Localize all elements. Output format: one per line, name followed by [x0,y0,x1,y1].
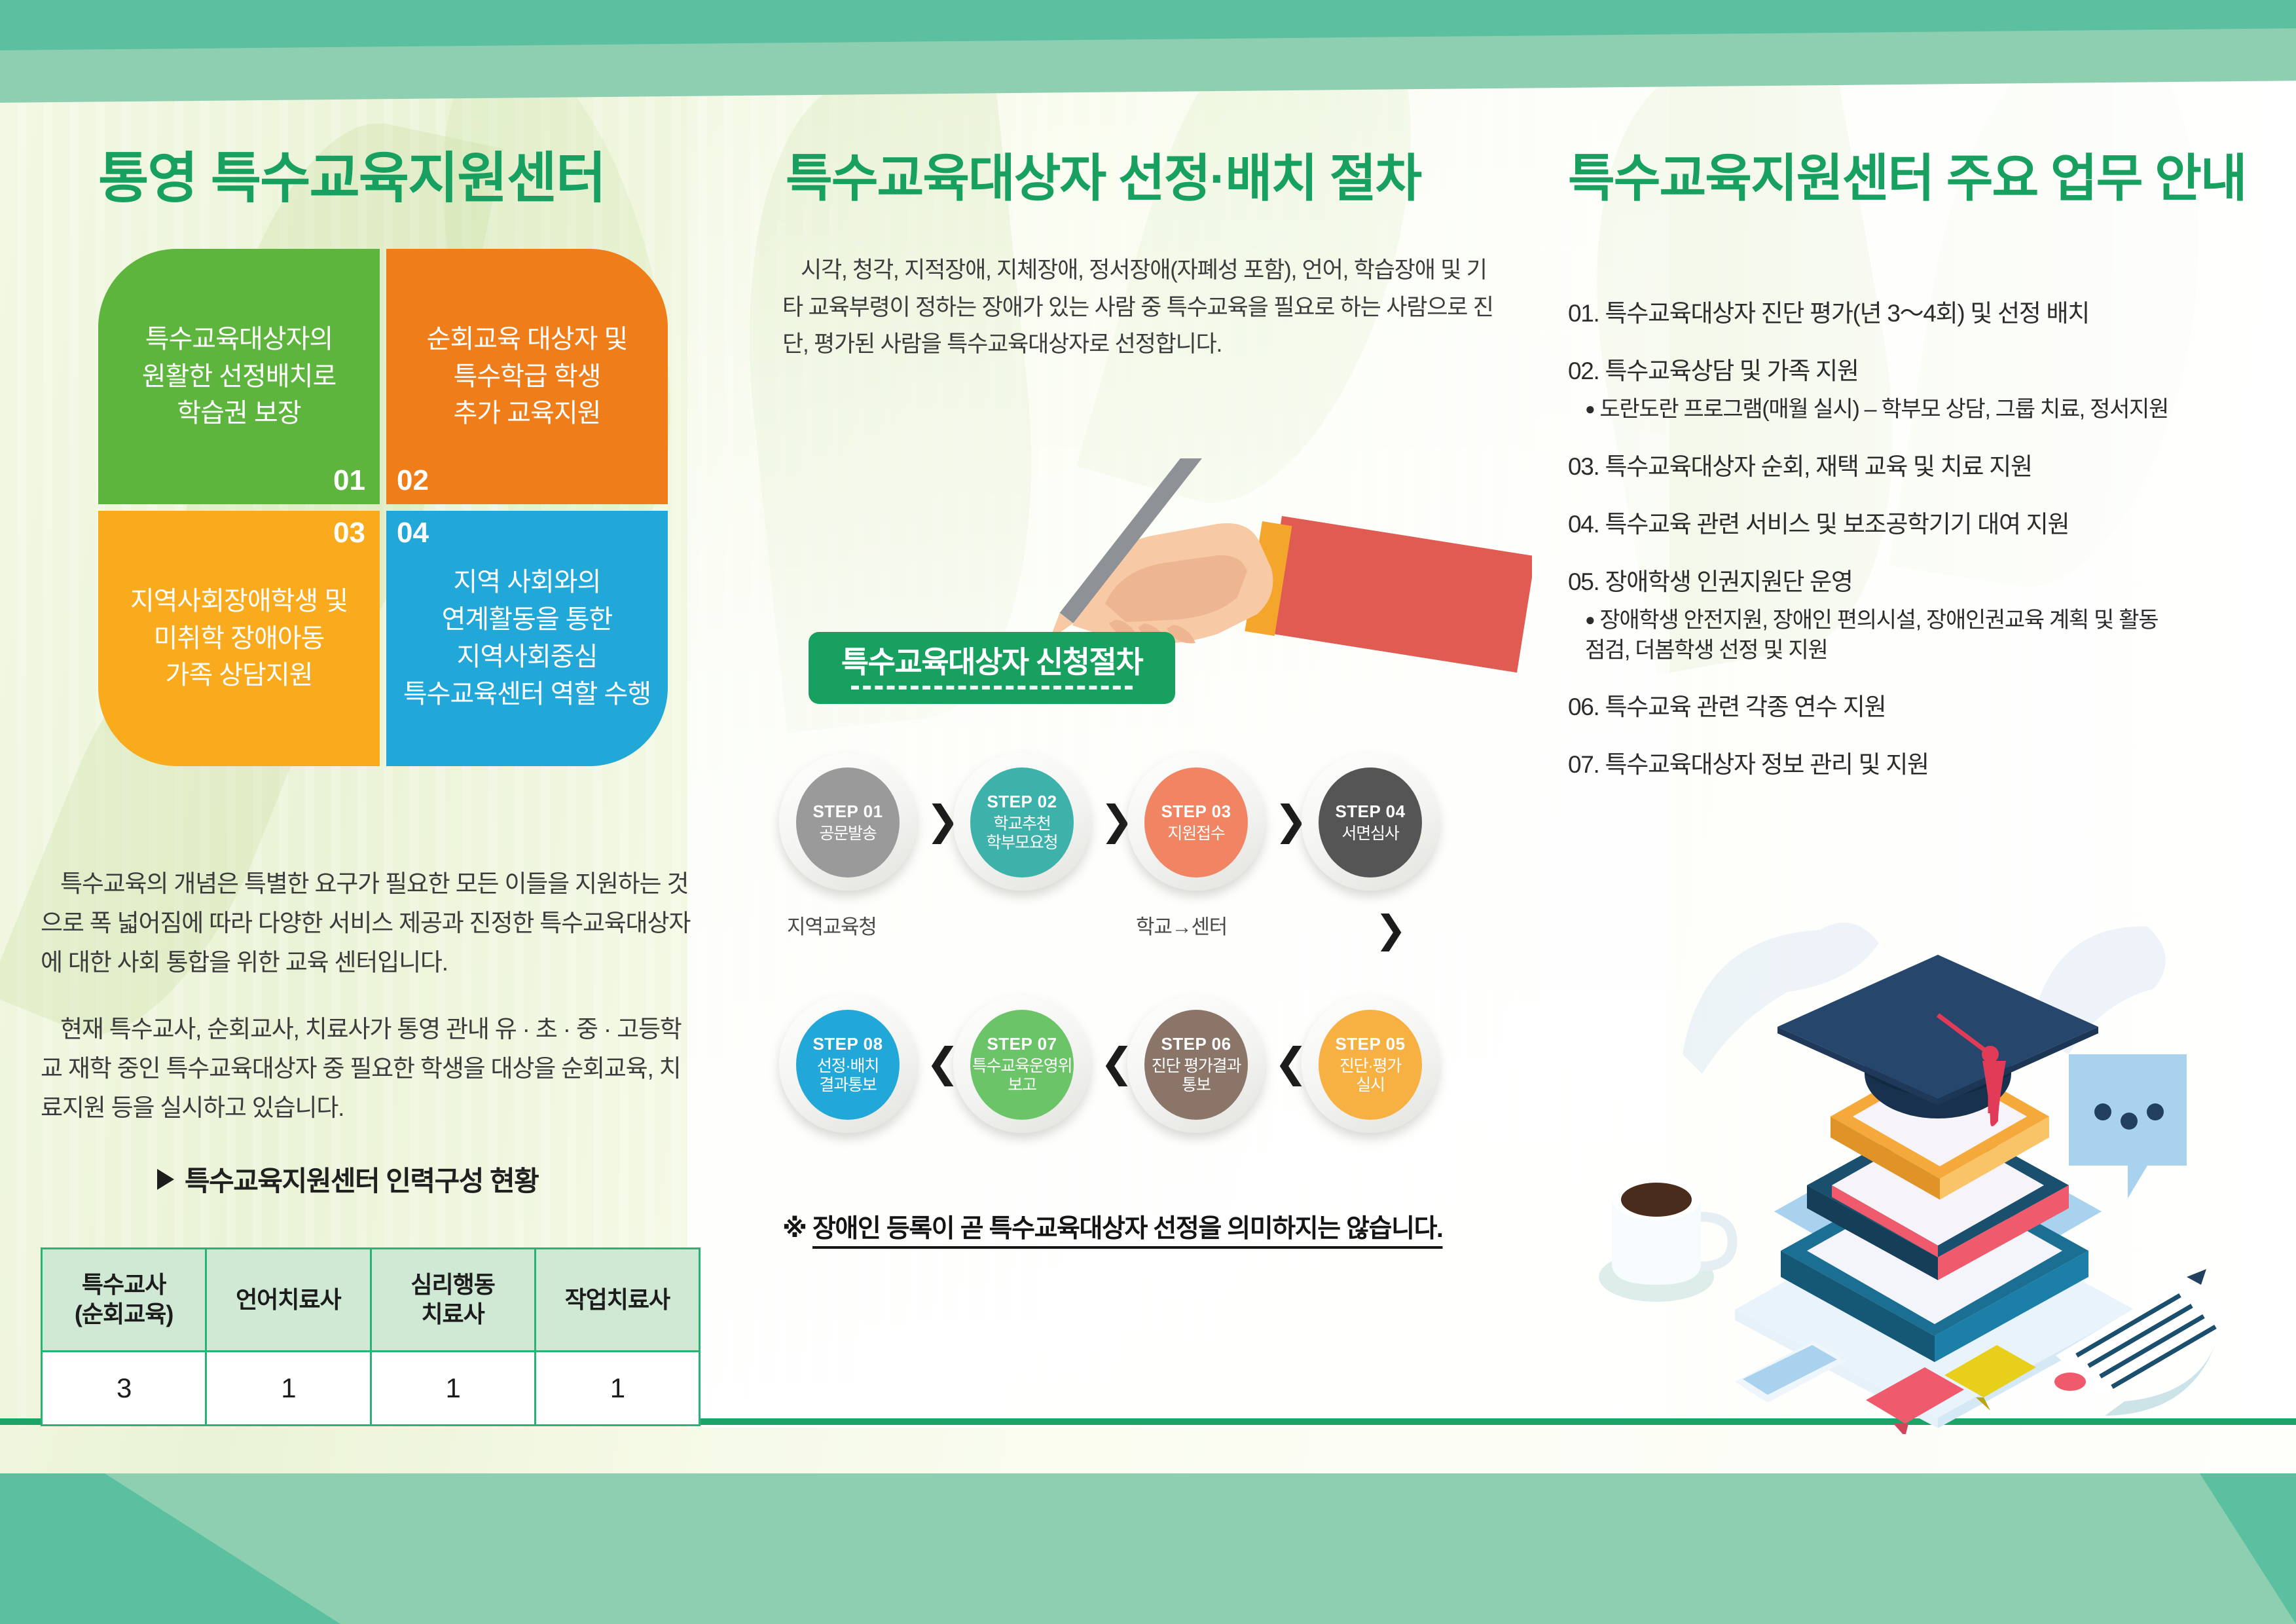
table-cell: 3 [42,1352,206,1426]
list-item-label: 01. 특수교육대상자 진단 평가(년 3〜4회) 및 선정 배치 [1568,298,2275,329]
bullet-icon: ● [1585,610,1594,629]
petal-text: 지역사회장애학생 및 미취학 장애아동 가족 상담지원 [130,583,348,694]
bottom-green-band [0,1473,2296,1624]
table-header-cell: 작업치료사 [535,1249,699,1352]
list-item-sub: ●장애학생 안전지원, 장애인 편의시설, 장애인권교육 계획 및 활동 점검,… [1568,606,2275,665]
list-item-sub-label: 도란도란 프로그램(매월 실시) – 학부모 상담, 그룹 치료, 정서지원 [1599,397,2168,422]
bottom-band-light [0,1473,2296,1624]
step-caption-right: 학교→센터 [1136,910,1227,940]
step-circle-03: STEP 03 지원접수 [1127,753,1265,891]
left-body-text: 특수교육의 개념은 특별한 요구가 필요한 모든 이들을 지원하는 것으로 폭 … [41,864,702,1155]
step-disc: STEP 05 진단·평가 실시 [1319,1010,1422,1120]
step-label: 서면심사 [1341,824,1398,844]
brochure-page: 통영 특수교육지원센터 특수교육대상자의 원활한 선정배치로 학습권 보장 01… [0,0,2296,1624]
step-id: STEP 08 [812,1034,883,1054]
step-label: 선정·배치 결과통보 [817,1057,879,1096]
list-item: 07. 특수교육대상자 정보 관리 및 지원 [1568,749,2275,781]
list-item: 02. 특수교육상담 및 가족 지원 ●도란도란 프로그램(매월 실시) – 학… [1568,356,2275,425]
list-item-label: 07. 특수교육대상자 정보 관리 및 지원 [1568,749,2275,781]
step-id: STEP 07 [987,1034,1057,1054]
list-item: 04. 특수교육 관련 서비스 및 보조공학기기 대여 지원 [1568,509,2275,540]
list-item-sub-label: 장애학생 안전지원, 장애인 편의시설, 장애인권교육 계획 및 활동 점검, … [1585,608,2158,663]
staff-table-heading: 특수교육지원센터 인력구성 현황 [157,1159,538,1199]
step-label: 지원접수 [1167,824,1224,844]
list-item: 06. 특수교육 관련 각종 연수 지원 [1568,692,2275,723]
petal-diagram: 특수교육대상자의 원활한 선정배치로 학습권 보장 01 순회교육 대상자 및 … [98,249,687,783]
petal-card-02: 순회교육 대상자 및 특수학급 학생 추가 교육지원 02 [386,249,668,504]
staff-table-heading-label: 특수교육지원센터 인력구성 현황 [185,1159,538,1199]
step-id: STEP 04 [1335,802,1405,822]
step-circle-06: STEP 06 진단 평가결과 통보 [1127,995,1265,1133]
step-id: STEP 03 [1161,802,1231,822]
petal-card-03: 지역사회장애학생 및 미취학 장애아동 가족 상담지원 03 [98,511,380,766]
step-label: 특수교육운영위 보고 [972,1057,1072,1096]
left-paragraph-1: 특수교육의 개념은 특별한 요구가 필요한 모든 이들을 지원하는 것으로 폭 … [41,864,702,982]
right-column-title: 특수교육지원센터 주요 업무 안내 [1568,138,2246,211]
step-id: STEP 01 [812,802,883,822]
triangle-bullet-icon [157,1169,174,1190]
left-column-title: 통영 특수교육지원센터 [98,134,605,213]
petal-number: 03 [333,519,365,547]
education-books-illustration [1571,858,2291,1434]
step-id: STEP 02 [987,792,1057,812]
step-circle-04: STEP 04 서면심사 [1302,753,1439,891]
step-id: STEP 06 [1161,1034,1231,1054]
table-header-row: 특수교사 (순회교육) 언어치료사 심리행동 치료사 작업치료사 [42,1249,700,1352]
petal-number: 02 [397,466,429,495]
footnote-text: 장애인 등록이 곧 특수교육대상자 선정을 의미하지는 않습니다. [812,1215,1443,1243]
step-disc: STEP 04 서면심사 [1319,767,1422,877]
step-circle-07: STEP 07 특수교육운영위 보고 [953,995,1091,1133]
petal-text: 순회교육 대상자 및 특수학급 학생 추가 교육지원 [427,321,628,432]
bullet-icon: ● [1585,399,1594,418]
table-cell: 1 [206,1352,371,1426]
list-item-label: 06. 특수교육 관련 각종 연수 지원 [1568,692,2275,723]
chevron-down-icon: ❯ [1375,910,1407,948]
left-paragraph-2: 현재 특수교사, 순회교사, 치료사가 통영 관내 유 · 초 · 중 · 고등… [41,1010,702,1128]
step-label: 진단 평가결과 통보 [1152,1057,1241,1096]
step-circle-02: STEP 02 학교추천 학부모요청 [953,753,1091,891]
list-item-label: 02. 특수교육상담 및 가족 지원 [1568,356,2275,387]
middle-intro-text: 시각, 청각, 지적장애, 지체장애, 정서장애(자폐성 포함), 언어, 학습… [782,252,1499,363]
banner-label: 특수교육대상자 신청절차 [841,647,1142,677]
step-circle-05: STEP 05 진단·평가 실시 [1302,995,1439,1133]
process-steps-diagram: STEP 01 공문발송 ❯ STEP 02 학교추천 학부모요청 ❯ STEP… [779,753,1519,1185]
table-row: 3 1 1 1 [42,1352,700,1426]
middle-column-title: 특수교육대상자 선정·배치 절차 [786,138,1421,211]
middle-footnote: ※ 장애인 등록이 곧 특수교육대상자 선정을 의미하지는 않습니다. [782,1208,1442,1245]
list-item-label: 04. 특수교육 관련 서비스 및 보조공학기기 대여 지원 [1568,509,2275,540]
petal-card-04: 지역 사회와의 연계활동을 통한 지역사회중심 특수교육센터 역할 수행 04 [386,511,668,766]
list-item: 03. 특수교육대상자 순회, 재택 교육 및 치료 지원 [1568,451,2275,483]
table-header-cell: 심리행동 치료사 [371,1249,535,1352]
step-disc: STEP 02 학교추천 학부모요청 [970,767,1074,877]
step-disc: STEP 06 진단 평가결과 통보 [1144,1010,1248,1120]
petal-number: 04 [397,519,429,547]
table-header-cell: 언어치료사 [206,1249,371,1352]
step-disc: STEP 08 선정·배치 결과통보 [796,1010,900,1120]
petal-text: 지역 사회와의 연계활동을 통한 지역사회중심 특수교육센터 역할 수행 [403,564,651,712]
list-item: 05. 장애학생 인권지원단 운영 ●장애학생 안전지원, 장애인 편의시설, … [1568,566,2275,665]
step-disc: STEP 01 공문발송 [796,767,900,877]
step-label: 진단·평가 실시 [1339,1057,1401,1096]
step-caption-left: 지역교육청 [787,910,877,940]
table-cell: 1 [535,1352,699,1426]
petal-number: 01 [333,466,365,495]
list-item-sub: ●도란도란 프로그램(매월 실시) – 학부모 상담, 그룹 치료, 정서지원 [1568,395,2275,425]
list-item-label: 05. 장애학생 인권지원단 운영 [1568,566,2275,598]
list-item-label: 03. 특수교육대상자 순회, 재택 교육 및 치료 지원 [1568,451,2275,483]
step-circle-08: STEP 08 선정·배치 결과통보 [779,995,917,1133]
table-cell: 1 [371,1352,535,1426]
petal-text: 특수교육대상자의 원활한 선정배치로 학습권 보장 [142,321,337,432]
footnote-marker: ※ [782,1215,812,1243]
step-label: 학교추천 학부모요청 [986,815,1057,853]
step-circle-01: STEP 01 공문발송 [779,753,917,891]
petal-card-01: 특수교육대상자의 원활한 선정배치로 학습권 보장 01 [98,249,380,504]
list-item: 01. 특수교육대상자 진단 평가(년 3〜4회) 및 선정 배치 [1568,298,2275,329]
table-header-cell: 특수교사 (순회교육) [42,1249,206,1352]
step-disc: STEP 07 특수교육운영위 보고 [970,1010,1074,1120]
services-list: 01. 특수교육대상자 진단 평가(년 3〜4회) 및 선정 배치 02. 특수… [1568,298,2275,807]
step-label: 공문발송 [819,824,876,844]
banner-dashed-rule [851,686,1133,690]
staff-composition-table: 특수교사 (순회교육) 언어치료사 심리행동 치료사 작업치료사 3 1 1 1 [41,1247,701,1426]
step-disc: STEP 03 지원접수 [1144,767,1248,877]
step-id: STEP 05 [1335,1034,1405,1054]
application-process-banner: 특수교육대상자 신청절차 [809,632,1175,704]
